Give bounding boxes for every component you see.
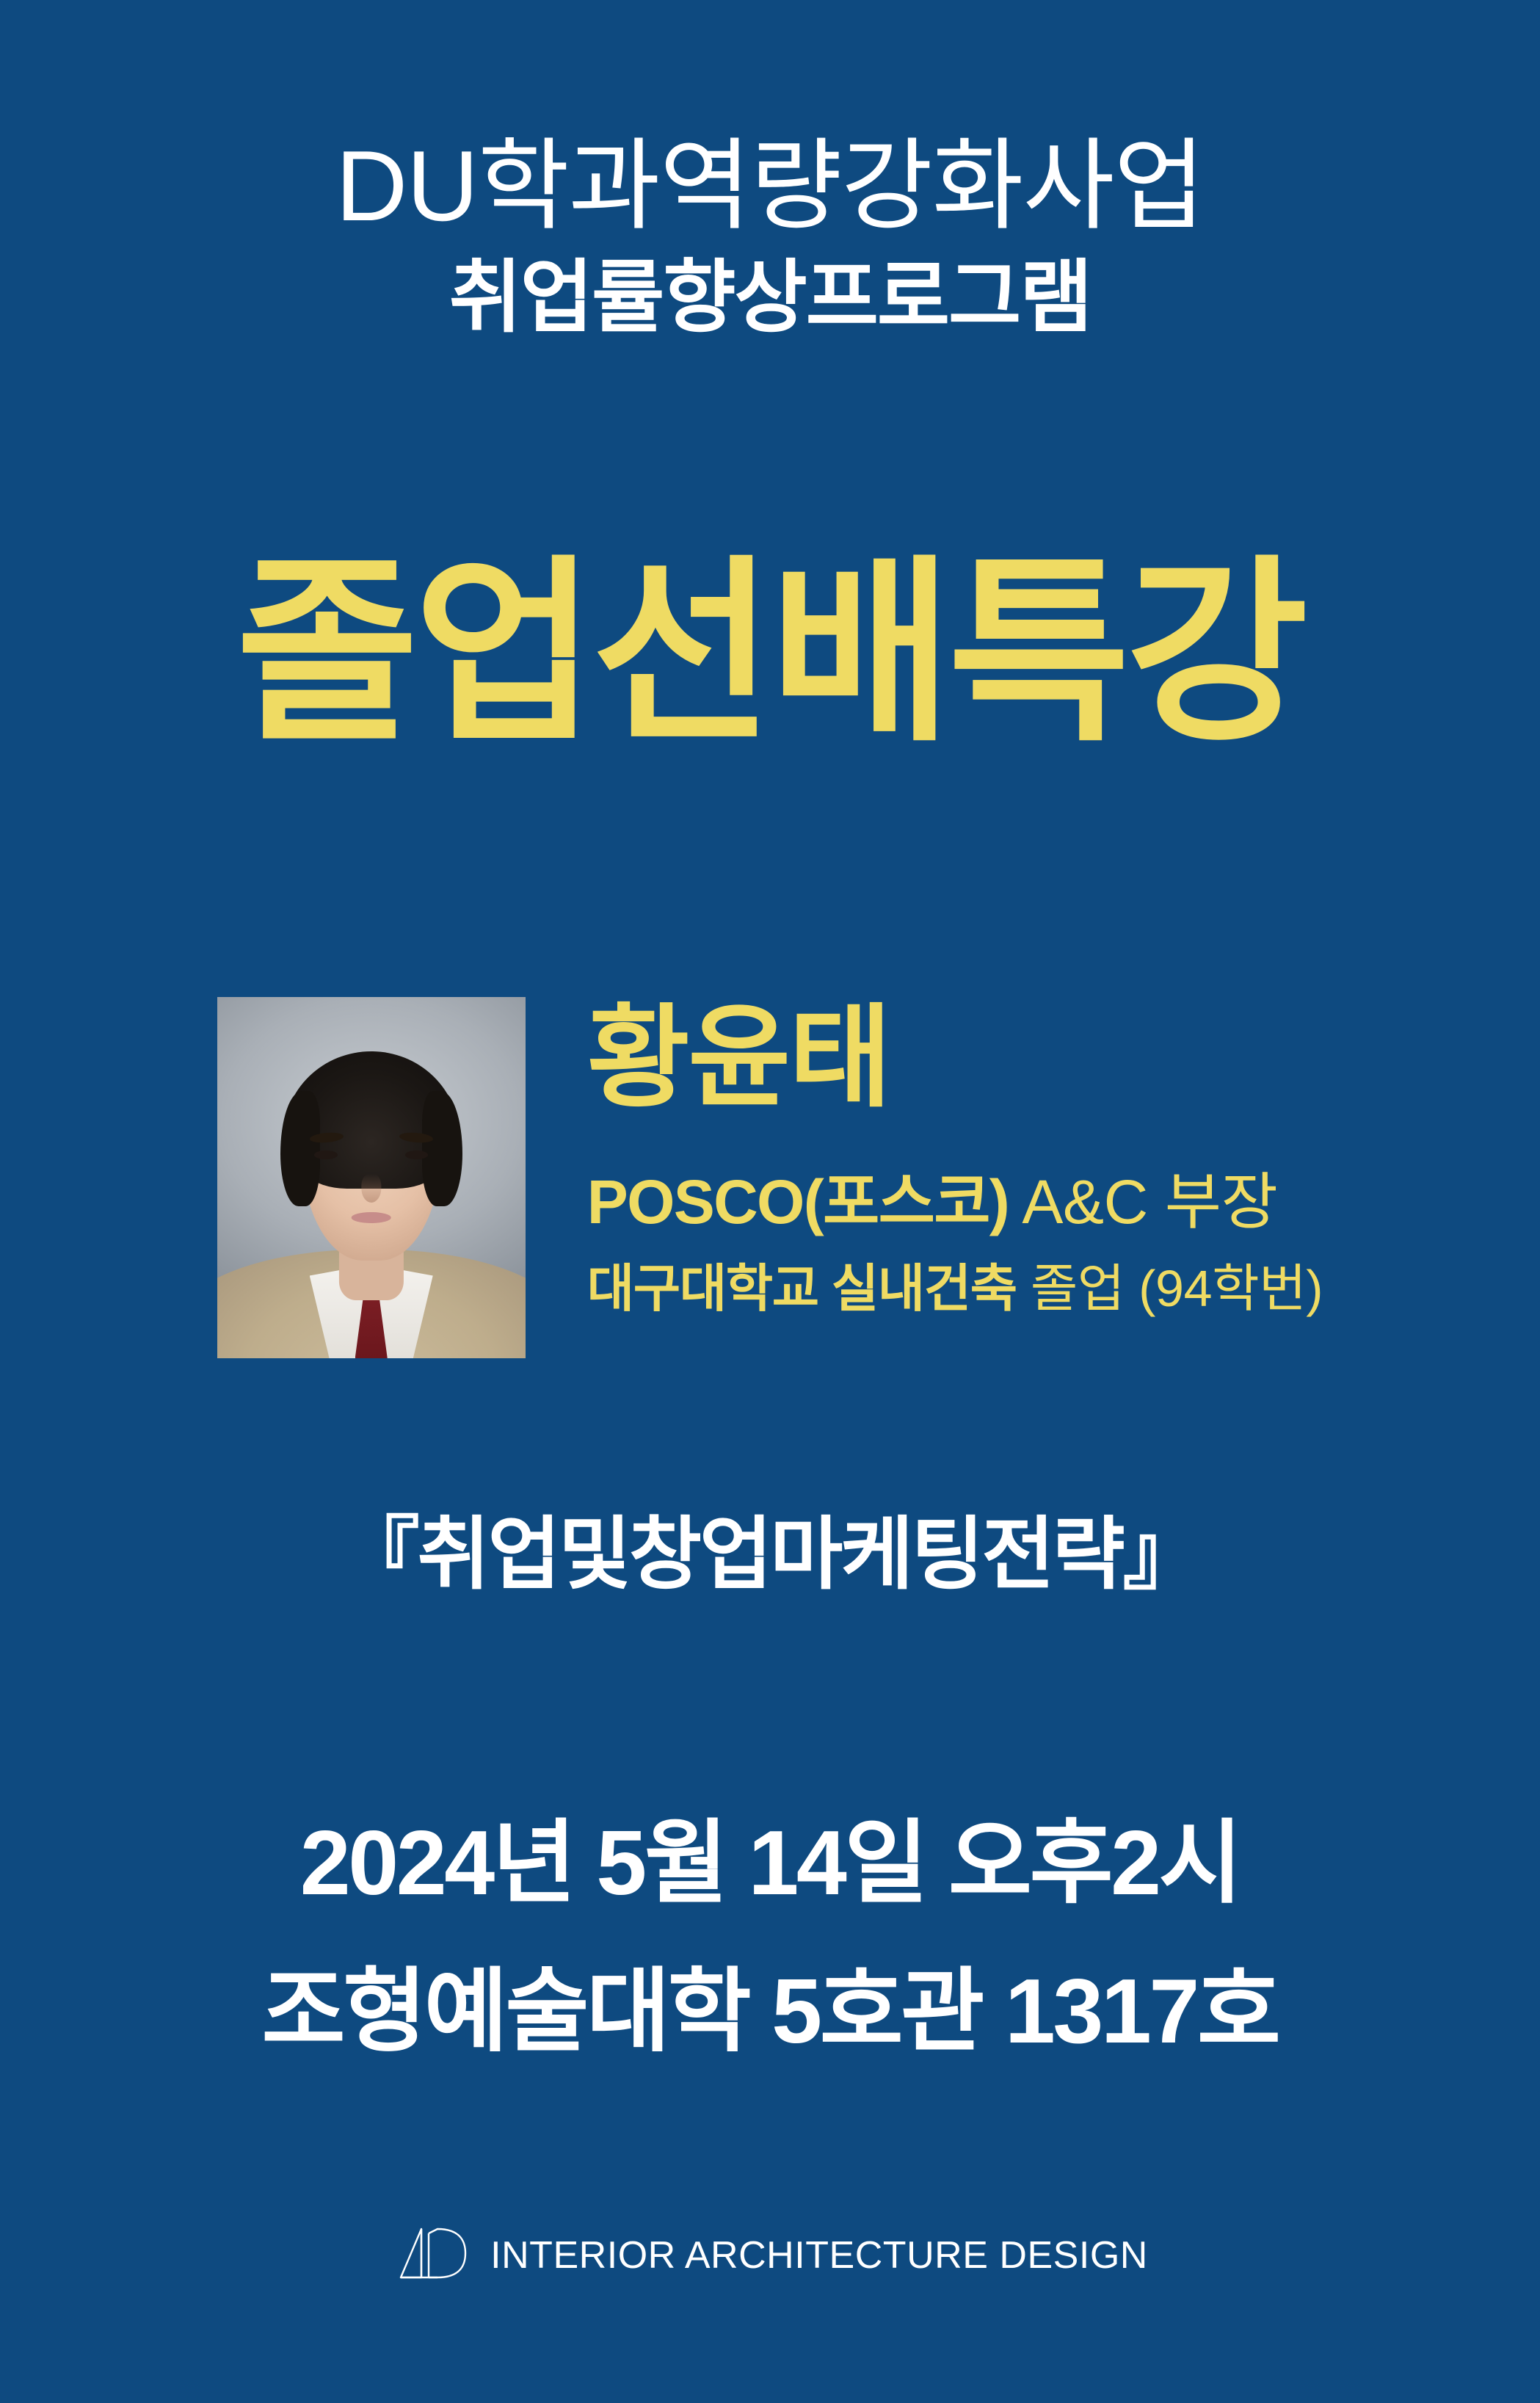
lecture-topic: 『취업및창업마케팅전략』 bbox=[0, 1511, 1540, 1598]
speaker-position: A&C 부장 bbox=[1009, 1167, 1277, 1236]
event-datetime: 2024년 5월 14일 오후2시 bbox=[0, 1813, 1540, 1913]
portrait-eye-left bbox=[314, 1150, 338, 1159]
speaker-block: 황윤태 POSCO(포스코) A&C 부장 대구대학교 실내건축 졸업 (94학… bbox=[0, 997, 1540, 1358]
speaker-role: POSCO(포스코) A&C 부장 bbox=[587, 1170, 1323, 1235]
speaker-graduation: 졸업 (94학번) bbox=[1017, 1260, 1323, 1317]
speaker-company: POSCO(포스코) bbox=[587, 1167, 1009, 1236]
portrait-mouth bbox=[351, 1212, 391, 1224]
page-title: 졸업선배특강 bbox=[0, 543, 1540, 765]
speaker-photo bbox=[217, 997, 526, 1358]
portrait-hair-left bbox=[280, 1091, 321, 1206]
iad-monogram-logo-icon bbox=[392, 2226, 468, 2284]
footer: INTERIOR ARCHITECTURE DESIGN bbox=[0, 2226, 1540, 2284]
header-block: DU학과역량강화사업 취업률향상프로그램 bbox=[0, 132, 1540, 341]
speaker-education: 대구대학교 실내건축 졸업 (94학번) bbox=[587, 1261, 1323, 1316]
event-venue: 조형예술대학 5호관 1317호 bbox=[0, 1962, 1540, 2062]
speaker-name: 황윤태 bbox=[587, 1001, 1323, 1115]
portrait-hair-right bbox=[422, 1091, 462, 1206]
department-name: INTERIOR ARCHITECTURE DESIGN bbox=[490, 2236, 1148, 2275]
subprogram-title: 취업률향상프로그램 bbox=[0, 255, 1540, 341]
speaker-details: 황윤태 POSCO(포스코) A&C 부장 대구대학교 실내건축 졸업 (94학… bbox=[587, 997, 1323, 1316]
program-title: DU학과역량강화사업 bbox=[0, 132, 1540, 240]
portrait-eye-right bbox=[405, 1150, 429, 1159]
speaker-school: 대구대학교 실내건축 bbox=[587, 1260, 1017, 1317]
poster-canvas: DU학과역량강화사업 취업률향상프로그램 졸업선배특강 bbox=[0, 0, 1540, 2403]
